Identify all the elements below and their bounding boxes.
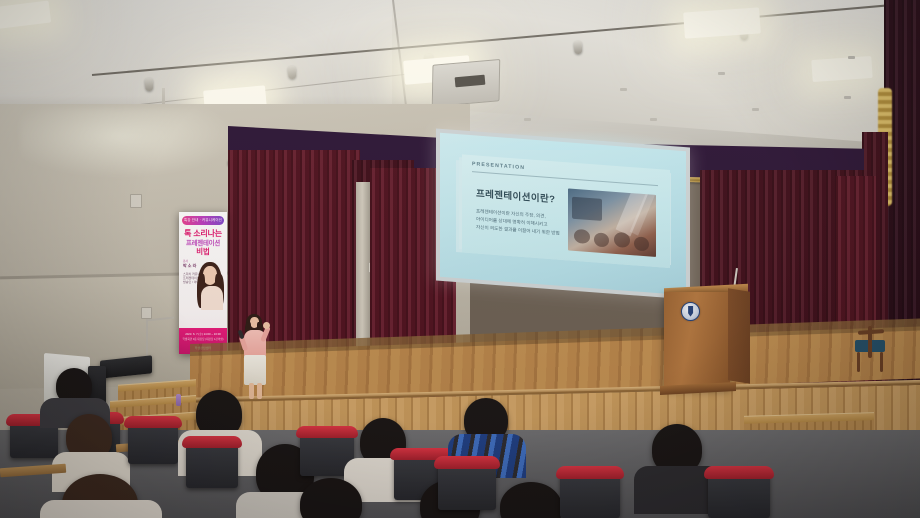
event-rollup-banner[interactable]: 특강 안내 · 커뮤니케이션 스피치 톡 소리나는 프레젠테이션 비법 강사 박… bbox=[179, 212, 227, 354]
seat-back-trim bbox=[556, 466, 624, 479]
banner-ribbon: 특강 안내 · 커뮤니케이션 스피치 bbox=[182, 216, 224, 225]
portrait-body bbox=[201, 286, 223, 310]
ceiling-fitting bbox=[524, 118, 531, 121]
university-crest-emblem bbox=[681, 302, 700, 321]
photo-audience-head bbox=[594, 232, 609, 247]
photo-audience-head bbox=[574, 229, 590, 244]
speaker-raised-hand bbox=[263, 322, 270, 329]
seat-back-trim bbox=[182, 436, 242, 448]
seat-back-trim bbox=[434, 456, 500, 469]
spot-lamp-icon bbox=[574, 41, 583, 55]
ceiling-fitting bbox=[848, 56, 855, 59]
photo-audience-head bbox=[614, 232, 630, 248]
banner-footer-date: 2023. 6. 7.(수) 14:00 ~ 16:00 bbox=[179, 332, 227, 336]
water-bottle[interactable] bbox=[176, 394, 181, 406]
ceiling-fitting bbox=[718, 72, 725, 75]
photo-audience-head bbox=[634, 236, 649, 251]
speaker-skirt bbox=[244, 355, 266, 385]
banner-footer-place: 학생회관 3층 대강당 (대강당 1강의실) bbox=[179, 337, 227, 341]
seat-back-trim bbox=[704, 466, 774, 479]
spot-lamp-icon bbox=[145, 78, 154, 92]
recessed-panel-light bbox=[811, 56, 872, 82]
banner-speaker-name: 박 소 라 bbox=[183, 264, 196, 268]
banner-headline-3: 비법 bbox=[179, 246, 227, 257]
ceiling-fitting bbox=[752, 108, 759, 111]
recessed-panel-light bbox=[683, 7, 761, 38]
stage-chair-leg bbox=[880, 352, 883, 372]
banner-portrait bbox=[196, 262, 227, 332]
ceiling-fitting bbox=[620, 88, 627, 91]
ceiling-fitting bbox=[844, 96, 851, 99]
stage-chair-post bbox=[868, 326, 872, 358]
projection-screen[interactable]: PRESENTATION 프레젠테이션이란? 프레젠테이션이란 자신의 주장, … bbox=[440, 133, 686, 295]
stage-chair-leg bbox=[857, 352, 860, 372]
auditorium-photo-scene: PRESENTATION 프레젠테이션이란? 프레젠테이션이란 자신의 주장, … bbox=[0, 0, 920, 518]
seat-back-trim bbox=[124, 416, 182, 428]
podium-side bbox=[728, 288, 750, 383]
photo-dark-region bbox=[572, 197, 602, 221]
seat-back-trim bbox=[296, 426, 358, 438]
ceiling-fitting bbox=[650, 118, 657, 121]
speaker-leg bbox=[257, 383, 262, 399]
speaker-leg bbox=[249, 383, 254, 399]
wall-light-reflection bbox=[20, 108, 240, 178]
wall-mount-bracket bbox=[141, 307, 152, 319]
audience-shoulders bbox=[40, 500, 162, 518]
slide-photo bbox=[568, 188, 656, 257]
wall-outlet-plate bbox=[130, 194, 142, 208]
spot-lamp-icon bbox=[288, 66, 297, 80]
